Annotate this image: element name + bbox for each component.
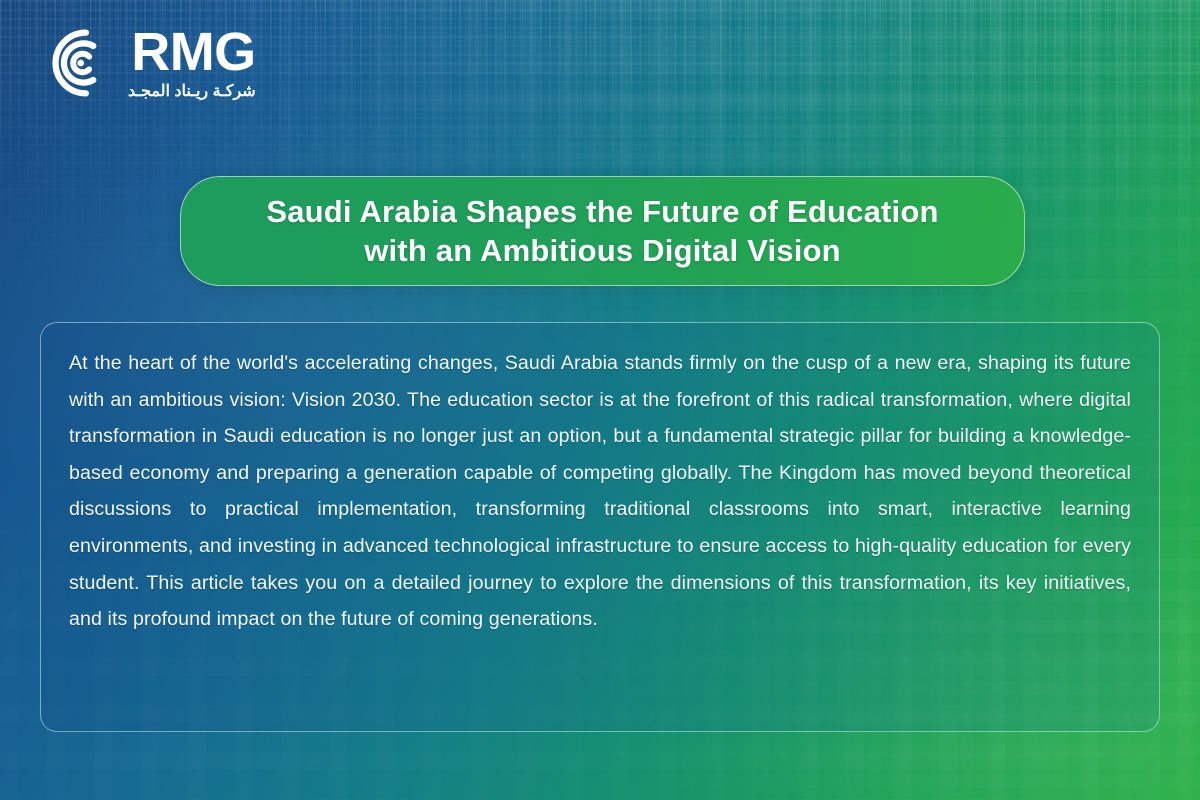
logo-arabic-name: شركـة ريـناد المجـد	[128, 81, 256, 101]
title-banner: Saudi Arabia Shapes the Future of Educat…	[180, 176, 1025, 286]
rmg-logo[interactable]: RMG شركـة ريـناد المجـد	[40, 26, 256, 101]
article-paragraph: At the heart of the world's accelerating…	[41, 323, 1159, 658]
rmg-spiral-logo-icon	[40, 26, 114, 100]
poster-canvas: RMG شركـة ريـناد المجـد Saudi Arabia Sha…	[0, 0, 1200, 800]
article-card: At the heart of the world's accelerating…	[40, 322, 1160, 732]
logo-wordmark: RMG	[131, 26, 255, 79]
page-title-line-2: with an Ambitious Digital Vision	[364, 233, 841, 268]
page-title-line-1: Saudi Arabia Shapes the Future of Educat…	[266, 194, 938, 229]
page-title: Saudi Arabia Shapes the Future of Educat…	[240, 192, 964, 270]
logo-wordmark-group: RMG شركـة ريـناد المجـد	[128, 26, 256, 101]
